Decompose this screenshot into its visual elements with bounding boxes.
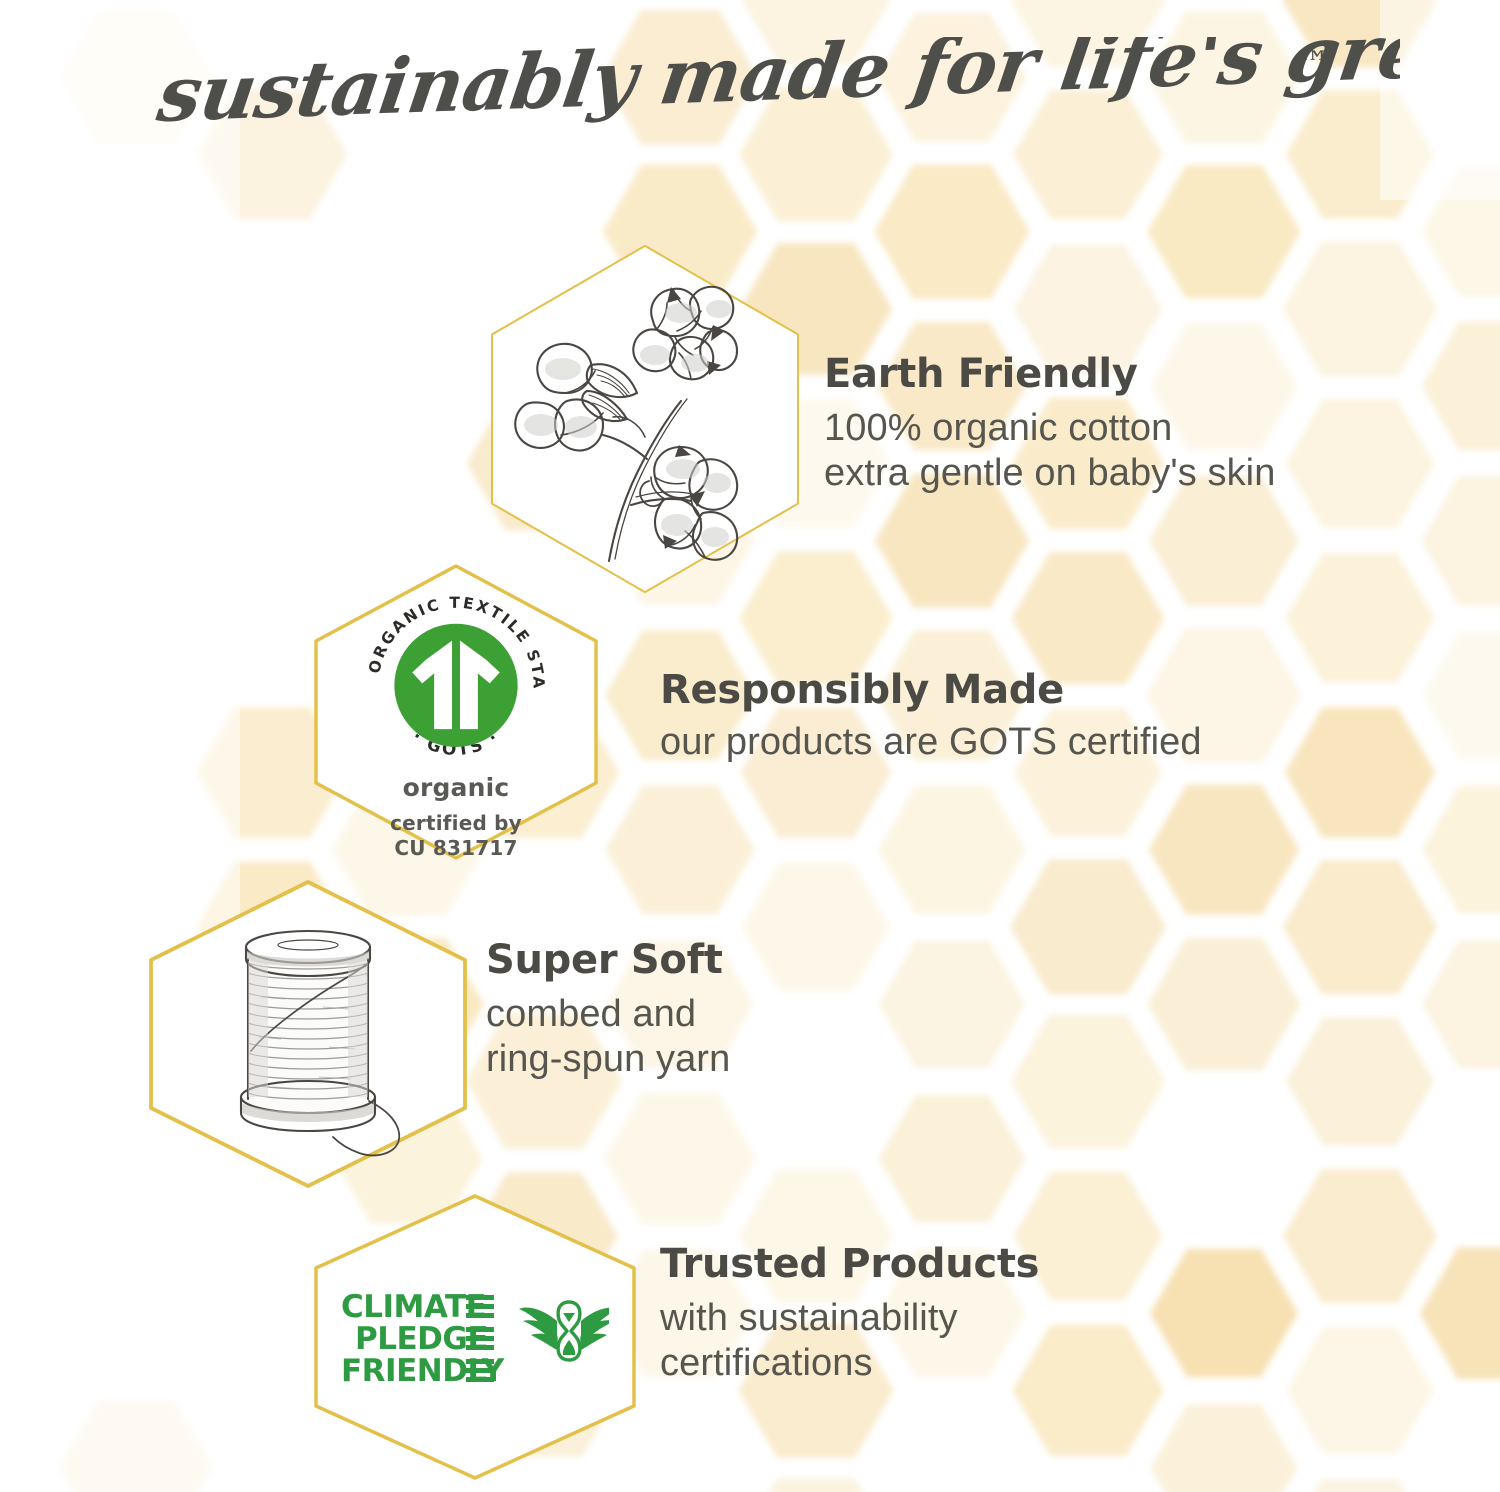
feature-subline: combed and — [486, 992, 1006, 1038]
honeycomb-cell — [1012, 552, 1165, 684]
honeycomb-cell — [874, 165, 1029, 300]
climate-pledge-line1: CLIMATE — [341, 1289, 486, 1325]
hex-card-earth-friendly — [484, 243, 806, 595]
honeycomb-cell — [1149, 785, 1299, 915]
honeycomb-cell — [1284, 1479, 1435, 1492]
headline-text: sustainably made for life's greatest joy — [152, 37, 1400, 140]
feature-subline: our products are GOTS certified — [660, 720, 1400, 766]
hex-card-responsibly-made: GLOBAL ORGANIC TEXTILE STANDARD · GOTS ·… — [308, 562, 604, 862]
climate-pledge-bars — [466, 1295, 494, 1382]
gots-certification-logo: GLOBAL ORGANIC TEXTILE STANDARD · GOTS ·… — [308, 562, 604, 862]
headline-banner: sustainably made for life's greatest joy… — [0, 36, 1500, 156]
gots-certified-by: certified by — [390, 811, 522, 837]
honeycomb-cell — [1010, 860, 1166, 995]
feature-subline: ring-spun yarn — [486, 1037, 1006, 1083]
feature-subtext: combed and ring-spun yarn — [486, 992, 1006, 1083]
honeycomb-cell — [739, 1479, 892, 1492]
cotton-branch-illustration — [484, 243, 806, 595]
feature-title: Trusted Products — [660, 1242, 1300, 1288]
honeycomb-cell — [1423, 632, 1500, 759]
honeycomb-cell — [878, 786, 1026, 914]
honeycomb-cell — [1283, 860, 1437, 994]
honeycomb-cell — [606, 785, 755, 914]
thread-spool-art — [173, 901, 443, 1167]
feature-subline: with sustainability — [660, 1296, 1300, 1342]
honeycomb-cell — [1422, 940, 1500, 1068]
honeycomb-cell — [1422, 786, 1500, 914]
feature-title: Responsibly Made — [660, 668, 1400, 714]
honeycomb-cell — [1286, 1018, 1433, 1146]
honeycomb-cell — [1286, 554, 1435, 683]
feature-subline: certifications — [660, 1341, 1300, 1387]
honeycomb-cell — [879, 1095, 1026, 1222]
honeycomb-cell — [1422, 167, 1500, 296]
thread-spool-illustration — [143, 878, 473, 1190]
gots-caption-organic: organic — [403, 773, 510, 802]
feature-subtext: 100% organic cotton extra gentle on baby… — [824, 406, 1444, 497]
feature-text-responsibly-made: Responsibly Made our products are GOTS c… — [660, 668, 1400, 765]
feature-subline: extra gentle on baby's skin — [824, 451, 1444, 497]
gots-seal-art: GLOBAL ORGANIC TEXTILE STANDARD · GOTS · — [348, 578, 564, 777]
honeycomb-cell — [1283, 1169, 1437, 1302]
honeycomb-cell — [1148, 938, 1301, 1070]
hex-card-super-soft — [143, 878, 473, 1190]
cotton-branch-art — [505, 269, 785, 569]
feature-text-trusted-products: Trusted Products with sustainability cer… — [660, 1242, 1300, 1387]
climate-pledge-friendly-logo: CLIMATE PLEDGE FRIENDLY — [308, 1192, 642, 1482]
feature-title: Super Soft — [486, 938, 1006, 984]
feature-subline: 100% organic cotton — [824, 406, 1444, 452]
background-white-wash — [0, 0, 240, 1492]
gots-caption-certified: certified by CU 831717 — [390, 811, 522, 862]
sustainability-infographic: sustainably made for life's greatest joy… — [0, 0, 1500, 1492]
feature-subtext: our products are GOTS certified — [660, 720, 1400, 766]
honeycomb-cell — [1147, 165, 1300, 298]
feature-subtext: with sustainability certifications — [660, 1296, 1300, 1387]
hex-card-trusted-products: CLIMATE PLEDGE FRIENDLY — [308, 1192, 642, 1482]
feature-text-earth-friendly: Earth Friendly 100% organic cotton extra… — [824, 352, 1444, 497]
honeycomb-cell — [1011, 1015, 1165, 1149]
honeycomb-cell — [1287, 1327, 1434, 1454]
feature-text-super-soft: Super Soft combed and ring-spun yarn — [486, 938, 1006, 1083]
gots-certifier-code: CU 831717 — [390, 836, 522, 862]
feature-title: Earth Friendly — [824, 352, 1444, 398]
climate-pledge-art: CLIMATE PLEDGE FRIENDLY — [341, 1281, 609, 1393]
headline-script-art: sustainably made for life's greatest joy… — [100, 37, 1400, 155]
headline-trademark: ™ — [1296, 44, 1330, 84]
honeycomb-cell — [1151, 1404, 1298, 1492]
honeycomb-cell — [1420, 1247, 1500, 1379]
gots-green-disc — [394, 624, 517, 747]
honeycomb-cell — [59, 1401, 213, 1492]
winged-hourglass-icon — [519, 1302, 609, 1360]
